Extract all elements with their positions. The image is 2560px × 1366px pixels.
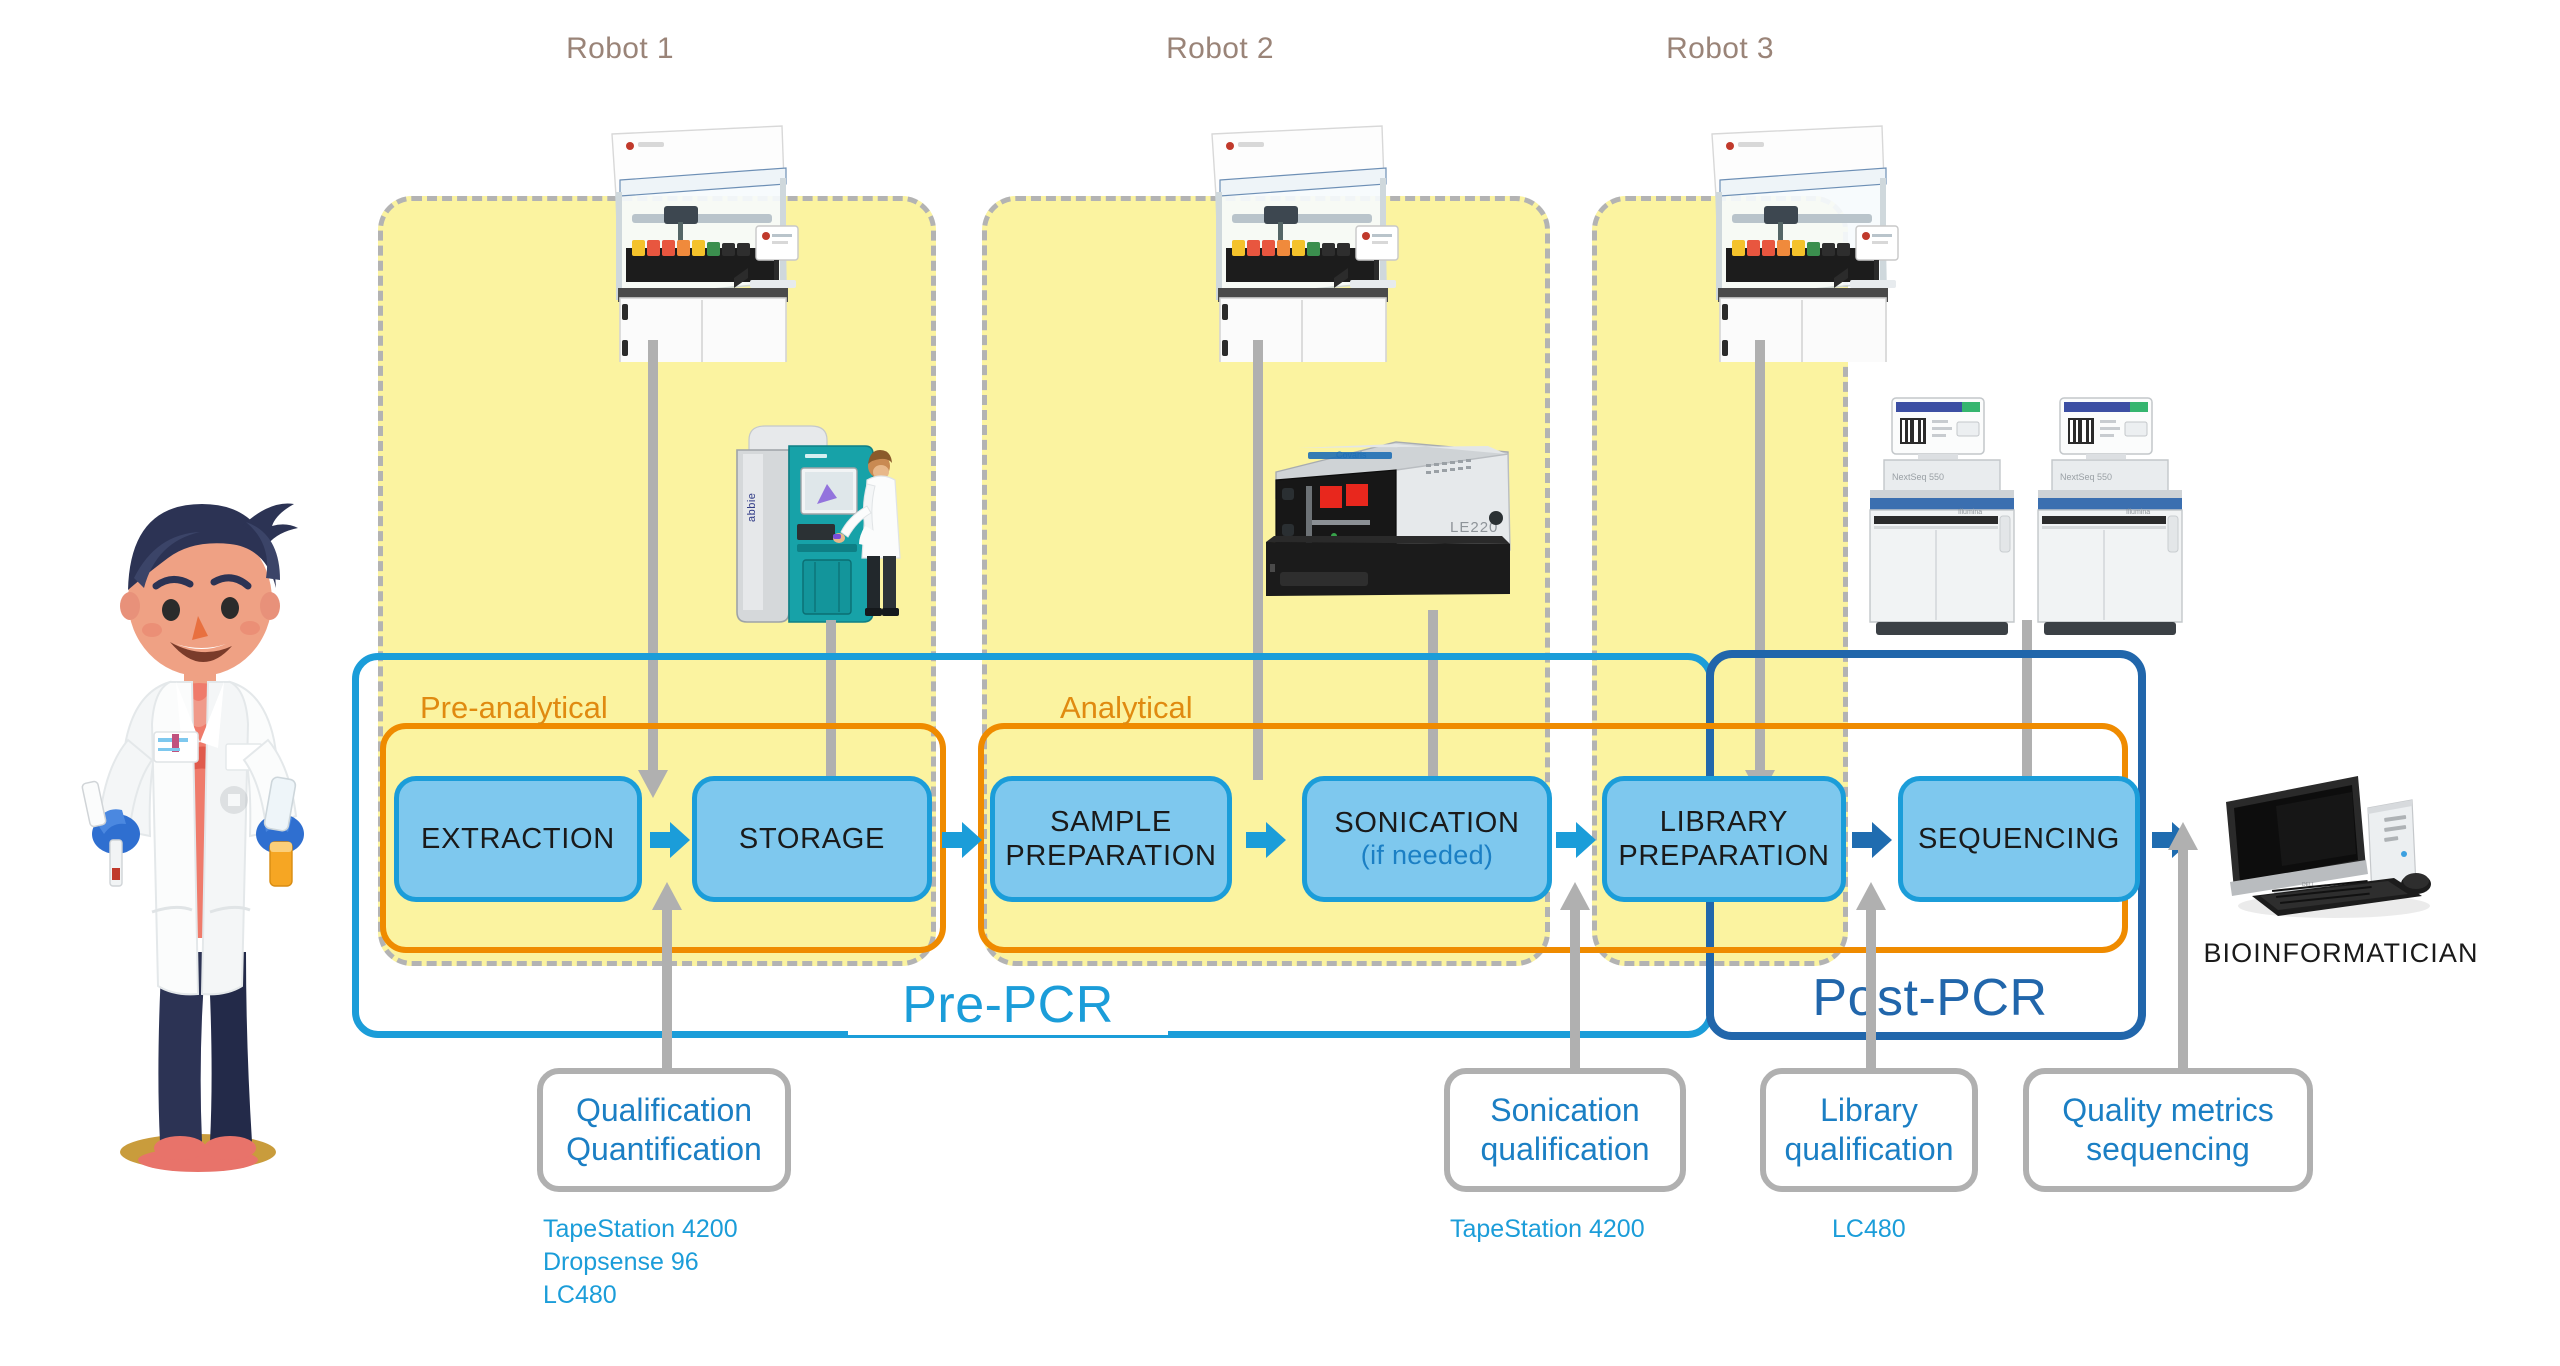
desktop-computer-icon: DELL: [2216, 756, 2466, 936]
liquid-handling-robot-icon-1: [560, 122, 800, 362]
liquid-handling-robot-icon-2: [1160, 122, 1400, 362]
step-extraction[interactable]: EXTRACTION: [394, 776, 642, 902]
pre-pcr-label: Pre-PCR: [848, 975, 1168, 1035]
step-sequencing[interactable]: SEQUENCING: [1898, 776, 2140, 902]
robot-label-3: Robot 3: [1610, 32, 1830, 66]
callout-line-1: Qualification: [576, 1092, 752, 1128]
svg-text:Illumina: Illumina: [1958, 509, 1982, 516]
flow-arrow-extraction-to-storage: [648, 818, 692, 862]
instruments-qualification: TapeStation 4200 Dropsense 96 LC480: [543, 1213, 738, 1312]
connector-callout-qualification: [662, 900, 672, 1078]
connector-arrow-up-library: [1856, 882, 1886, 910]
scientist-character-icon: [58, 482, 338, 1182]
svg-text:NextSeq 550: NextSeq 550: [1892, 472, 1944, 482]
callout-quality-metrics-sequencing-label: Quality metrics sequencing: [2062, 1091, 2274, 1169]
connector-arrow-up-qualification: [652, 882, 682, 910]
workflow-diagram: Robot 1 Robot 2 Robot 3: [0, 0, 2560, 1366]
benchtop-sequencer-icon-1: NextSeq 550 Illumina: [1862, 390, 2022, 640]
callout-sonication-qualification[interactable]: Sonication qualification: [1444, 1068, 1686, 1192]
callout-sonication-qualification-label: Sonication qualification: [1481, 1091, 1650, 1169]
callout-line-2: sequencing: [2086, 1131, 2250, 1167]
flow-arrow-storage-to-sample-prep: [940, 818, 984, 862]
bioinformatician-label: BIOINFORMATICIAN: [2196, 938, 2486, 969]
step-sequencing-label: SEQUENCING: [1918, 822, 2120, 856]
step-library-preparation[interactable]: LIBRARYPREPARATION: [1602, 776, 1846, 902]
phase-analytical-label: Analytical: [1060, 690, 1193, 726]
step-sonication[interactable]: SONICATION (if needed): [1302, 776, 1552, 902]
benchtop-sequencer-icon-2: NextSeq 550 Illumina: [2030, 390, 2190, 640]
callout-quality-metrics-sequencing[interactable]: Quality metrics sequencing: [2023, 1068, 2313, 1192]
flow-arrow-sonication-to-library-prep: [1554, 818, 1598, 862]
covaris-sonicator-icon: Covaris LE220: [1258, 424, 1528, 624]
connector-callout-quality-metrics: [2178, 840, 2188, 1078]
connector-arrow-up-quality-metrics: [2168, 822, 2198, 850]
step-extraction-label: EXTRACTION: [421, 822, 615, 856]
svg-text:NextSeq 550: NextSeq 550: [2060, 472, 2112, 482]
connector-callout-library: [1866, 900, 1876, 1078]
phase-pre-analytical-label: Pre-analytical: [420, 690, 608, 726]
step-storage-label: STORAGE: [739, 822, 885, 856]
svg-text:Covaris: Covaris: [1336, 450, 1367, 460]
callout-line-2: qualification: [1481, 1131, 1650, 1167]
automated-storage-instrument-icon: abbie: [715, 410, 915, 640]
step-sample-preparation-label: SAMPLEPREPARATION: [1005, 805, 1216, 873]
callout-line-1: Quality metrics: [2062, 1092, 2274, 1128]
liquid-handling-robot-icon-3: [1660, 122, 1900, 362]
flow-arrow-sample-prep-to-sonication: [1244, 818, 1288, 862]
step-sonication-label: SONICATION (if needed): [1334, 806, 1519, 872]
callout-line-1: Library: [1820, 1092, 1918, 1128]
callout-line-2: Quantification: [566, 1131, 762, 1167]
robot-label-1: Robot 1: [510, 32, 730, 66]
callout-library-qualification[interactable]: Library qualification: [1760, 1068, 1978, 1192]
callout-qualification-quantification-label: Qualification Quantification: [566, 1091, 762, 1169]
svg-text:abbie: abbie: [746, 493, 758, 522]
step-sample-preparation[interactable]: SAMPLEPREPARATION: [990, 776, 1232, 902]
step-library-preparation-label: LIBRARYPREPARATION: [1618, 805, 1829, 873]
callout-qualification-quantification[interactable]: Qualification Quantification: [537, 1068, 791, 1192]
step-storage[interactable]: STORAGE: [692, 776, 932, 902]
instruments-library: LC480: [1832, 1213, 1906, 1246]
connector-arrow-up-sonication: [1560, 882, 1590, 910]
step-sonication-sublabel: (if needed): [1334, 840, 1519, 872]
callout-line-2: qualification: [1785, 1131, 1954, 1167]
callout-library-qualification-label: Library qualification: [1785, 1091, 1954, 1169]
instruments-sonication: TapeStation 4200: [1450, 1213, 1645, 1246]
svg-text:Illumina: Illumina: [2126, 509, 2150, 516]
robot-label-2: Robot 2: [1110, 32, 1330, 66]
post-pcr-label: Post-PCR: [1790, 968, 2070, 1028]
callout-line-1: Sonication: [1490, 1092, 1639, 1128]
connector-callout-sonication: [1570, 900, 1580, 1078]
flow-arrow-library-prep-to-sequencing: [1850, 818, 1894, 862]
